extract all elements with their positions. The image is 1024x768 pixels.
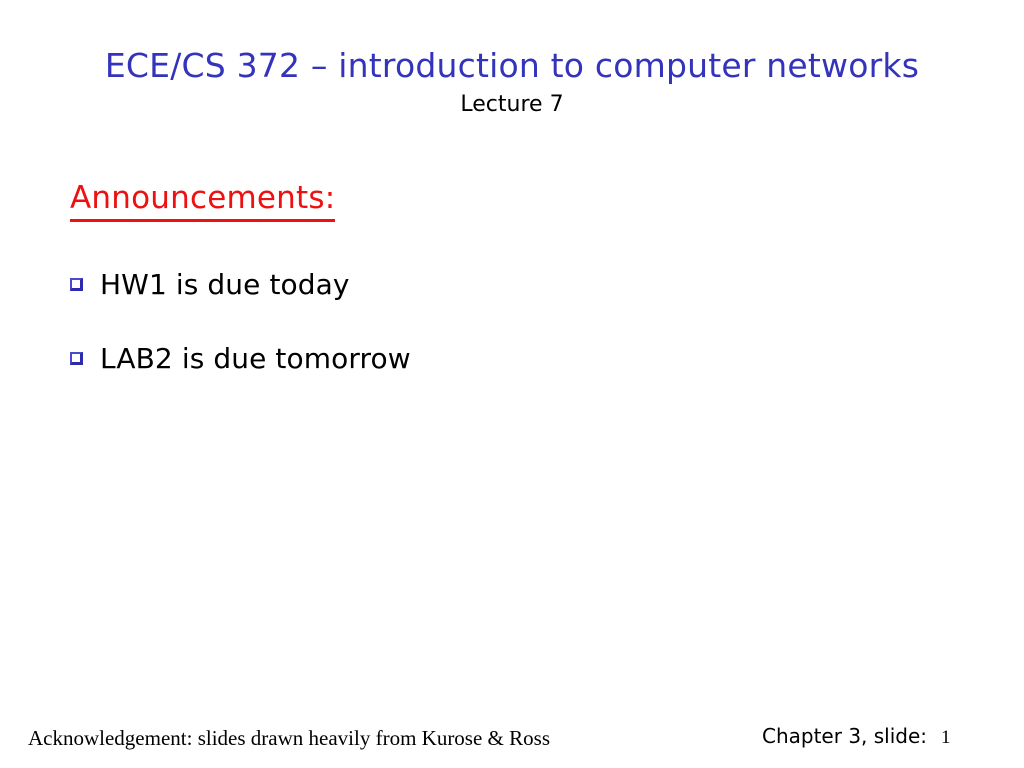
list-item: HW1 is due today xyxy=(70,268,970,302)
announcement-list: HW1 is due today LAB2 is due tomorrow xyxy=(70,268,970,376)
chapter-label: Chapter 3, slide: xyxy=(762,723,927,749)
slide-title-block: ECE/CS 372 – introduction to computer ne… xyxy=(0,46,1024,120)
acknowledgement-text: Acknowledgement: slides drawn heavily fr… xyxy=(28,725,550,751)
list-item: LAB2 is due tomorrow xyxy=(70,342,970,376)
square-bullet-icon xyxy=(70,352,83,365)
slide-subtitle: Lecture 7 xyxy=(0,90,1024,120)
slide-number: 1 xyxy=(941,725,951,751)
announcements-heading: Announcements: xyxy=(70,178,335,222)
list-item-label: LAB2 is due tomorrow xyxy=(100,342,411,376)
page-title: ECE/CS 372 – introduction to computer ne… xyxy=(0,46,1024,86)
slide-canvas: ECE/CS 372 – introduction to computer ne… xyxy=(0,0,1024,768)
slide-footer-right: Chapter 3, slide: 1 xyxy=(762,723,951,751)
slide-body: Announcements: HW1 is due today LAB2 is … xyxy=(70,178,970,376)
square-bullet-icon xyxy=(70,278,83,291)
list-item-label: HW1 is due today xyxy=(100,268,350,302)
